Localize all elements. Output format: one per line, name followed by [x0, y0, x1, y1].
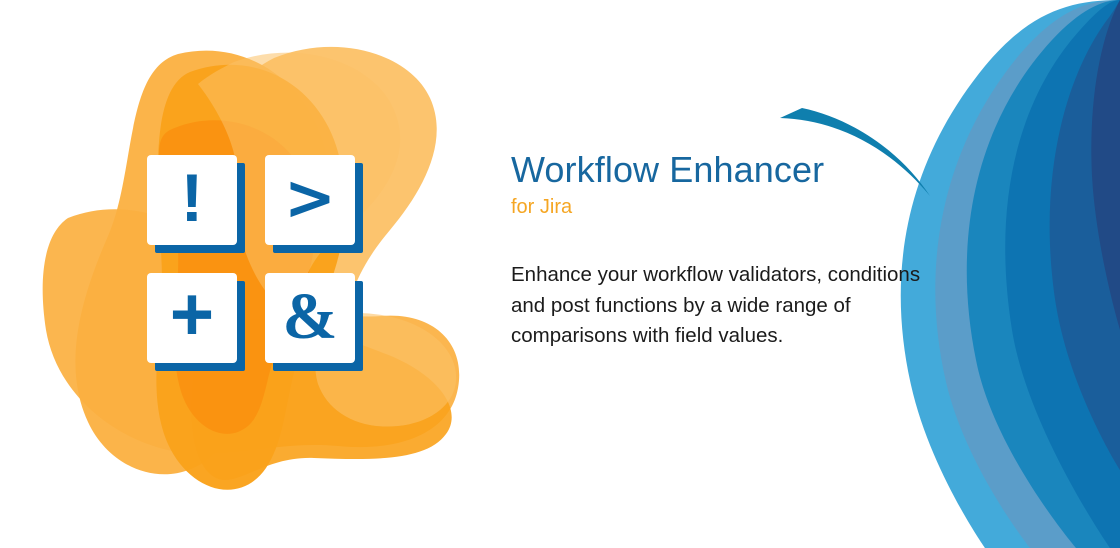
- tile-face: !: [147, 155, 237, 245]
- tile-face: +: [147, 273, 237, 363]
- wave-band-deep-blue: [1050, 0, 1120, 470]
- wave-band-mid-blue: [967, 0, 1120, 548]
- page-title: Workflow Enhancer: [511, 150, 951, 190]
- tile-face: >: [265, 155, 355, 245]
- product-logo: ! > + &: [38, 22, 478, 522]
- wave-band-navy: [1091, 0, 1120, 330]
- greater-than-icon: >: [284, 167, 336, 229]
- operator-tile-ampersand: &: [265, 273, 355, 363]
- ampersand-icon: &: [283, 284, 338, 350]
- product-platform-subtitle: for Jira: [511, 195, 951, 219]
- exclamation-icon: !: [181, 164, 204, 232]
- promo-banner: ! > + &: [0, 0, 1120, 548]
- product-text-block: Workflow Enhancer for Jira Enhance your …: [511, 150, 951, 351]
- operator-tile-exclamation: !: [147, 155, 237, 245]
- operator-tile-greater-than: >: [265, 155, 355, 245]
- operator-tile-plus: +: [147, 273, 237, 363]
- plus-icon: +: [170, 277, 214, 353]
- wave-band-blue: [1005, 0, 1120, 548]
- tile-face: &: [265, 273, 355, 363]
- wave-band-steel-blue: [935, 0, 1120, 548]
- operator-tile-grid: ! > + &: [147, 155, 363, 379]
- product-description: Enhance your workflow validators, condit…: [511, 260, 943, 351]
